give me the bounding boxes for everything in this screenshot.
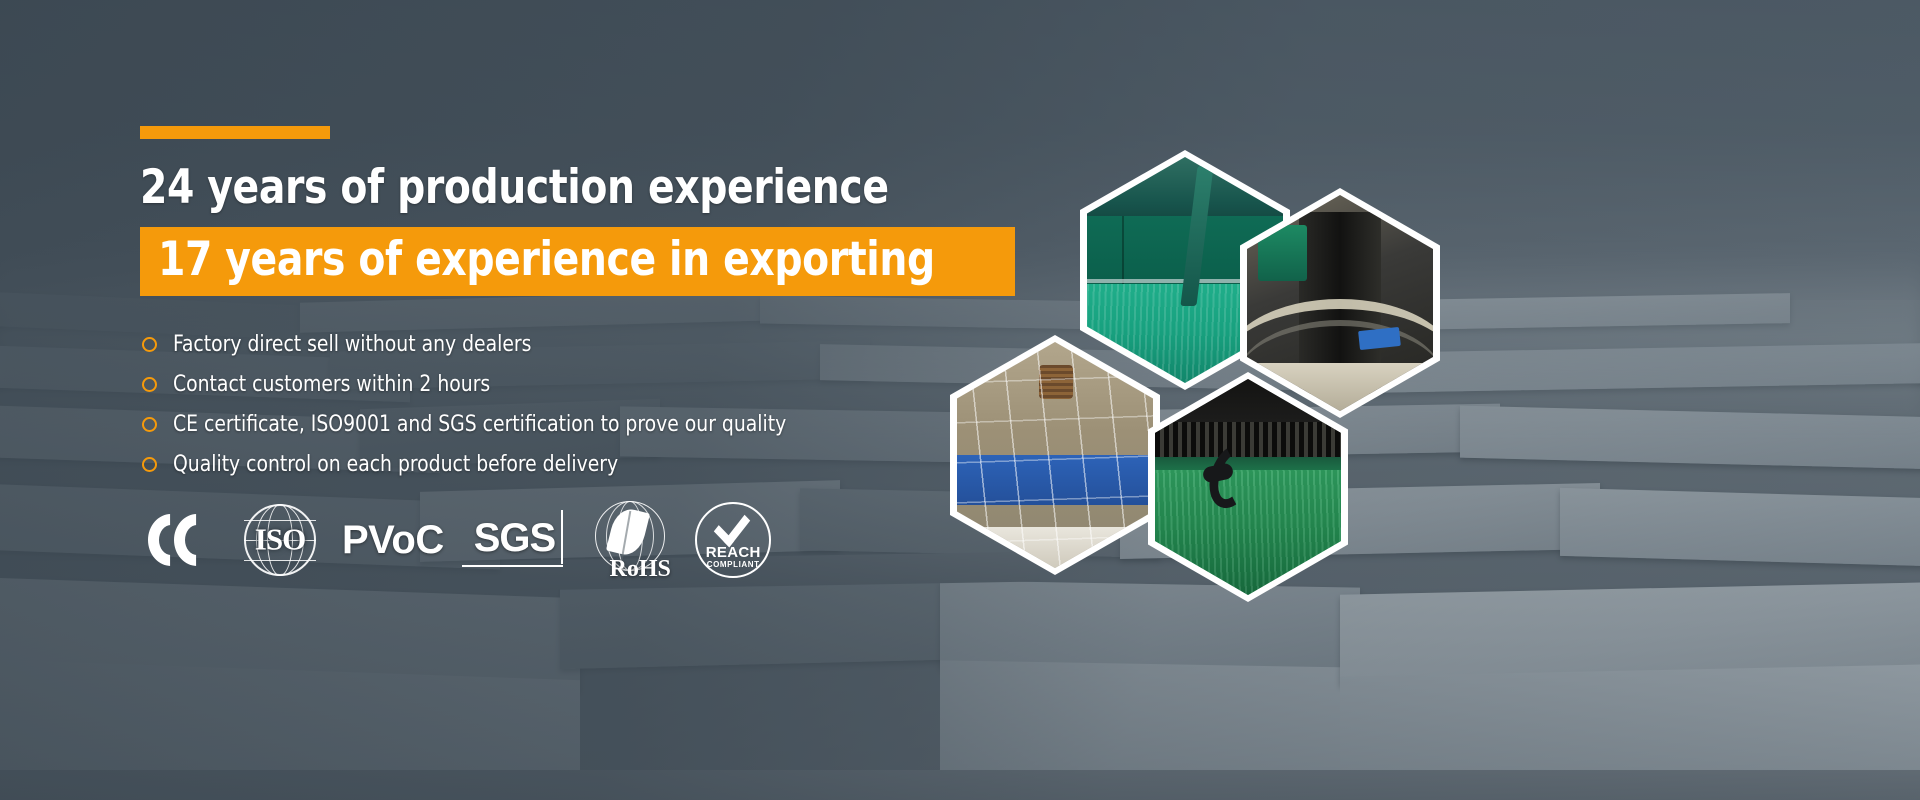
content-column: 24 years of production experience 17 yea… [140,0,960,800]
sgs-label: SGS [474,516,555,560]
list-item: Quality control on each product before d… [142,445,819,483]
circle-bullet-icon [142,337,157,352]
promo-banner: 24 years of production experience 17 yea… [0,0,1920,800]
sgs-rule-horizontal [462,565,563,567]
photo-net-on-ground [957,342,1153,568]
iso-certification-icon: ISO [244,504,316,576]
circle-bullet-icon [142,417,157,432]
reach-sublabel: COMPLIANT [695,560,771,569]
pvoc-certification-label: PVoC [342,518,444,563]
list-item-label: CE certificate, ISO9001 and SGS certific… [173,412,786,437]
list-item: Factory direct sell without any dealers [142,325,819,363]
hexagon-photo-net-on-ground [950,335,1160,575]
headline-primary: 24 years of production experience [140,160,889,215]
certification-logo-row: ISO PVoC SGS RoHS REACH [148,500,771,580]
rohs-label: RoHS [593,556,687,583]
photo-fabric-roll [1155,379,1341,595]
headline-secondary-highlight: 17 years of experience in exporting [140,227,1015,296]
list-item-label: Contact customers within 2 hours [173,372,490,397]
reach-certification-icon: REACH COMPLIANT [695,502,771,578]
circle-bullet-icon [142,377,157,392]
list-item-label: Quality control on each product before d… [173,452,618,477]
orange-accent-bar [140,126,330,139]
hexagon-photo-cluster [940,140,1500,560]
feature-list: Factory direct sell without any dealers … [142,325,819,485]
sgs-certification-icon: SGS [470,514,565,567]
circle-bullet-icon [142,457,157,472]
reach-label: REACH [695,544,771,561]
sgs-rule-vertical [561,510,563,564]
list-item: Contact customers within 2 hours [142,365,819,403]
headline-secondary: 17 years of experience in exporting [158,235,935,284]
list-item-label: Factory direct sell without any dealers [173,332,531,357]
iso-label: ISO [244,521,316,557]
rohs-certification-icon: RoHS [591,501,669,579]
ce-letter-e [174,514,220,566]
ce-mark-icon [148,514,218,566]
list-item: CE certificate, ISO9001 and SGS certific… [142,405,819,443]
photo-drum-winder [1247,195,1433,411]
